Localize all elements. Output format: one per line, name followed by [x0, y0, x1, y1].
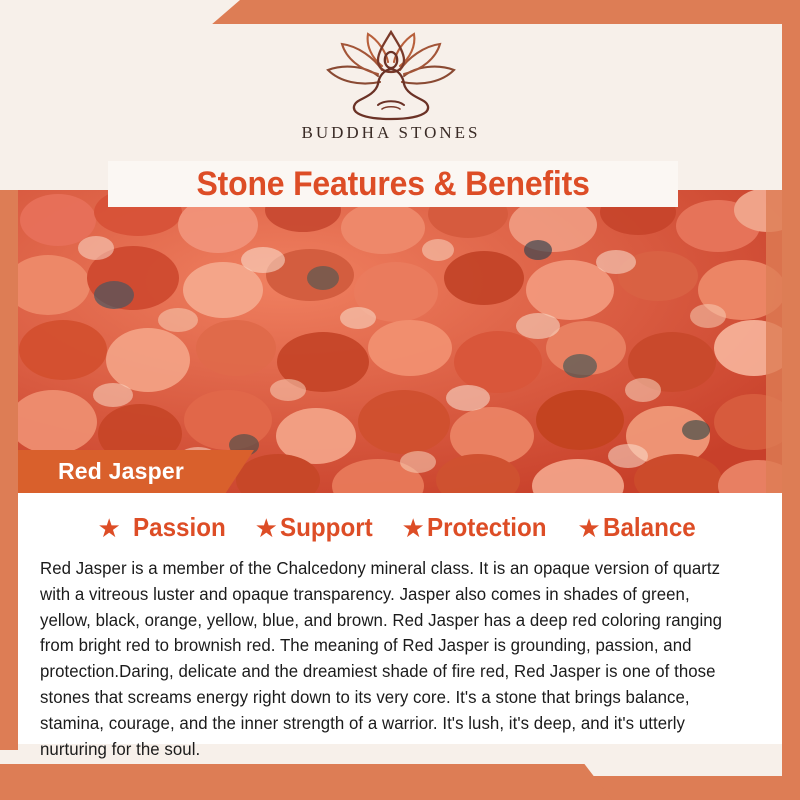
title-band: Stone Features & Benefits: [108, 161, 678, 207]
bottom-orange-band: [0, 764, 612, 800]
star-icon: ★: [577, 515, 600, 541]
benefit-balance: ★ Balance: [577, 512, 702, 543]
benefit-label-protection: Protection: [427, 512, 547, 543]
star-icon: ★: [402, 515, 425, 541]
star-icon: ★: [255, 515, 278, 541]
page-title: Stone Features & Benefits: [196, 165, 589, 204]
benefit-label-passion: Passion: [133, 512, 226, 543]
infographic-page: BUDDHA STONES Stone Features & Benefits: [0, 0, 800, 800]
benefit-passion: ★ Passion: [98, 512, 233, 543]
brand-name: BUDDHA STONES: [302, 123, 481, 143]
brand-logo: BUDDHA STONES: [0, 30, 782, 143]
benefit-label-support: Support: [280, 512, 373, 543]
benefit-protection: ★ Protection: [402, 512, 556, 543]
stone-description: Red Jasper is a member of the Chalcedony…: [40, 556, 745, 762]
content-panel: ★ Passion ★ Support ★ Protection ★ Balan…: [18, 493, 782, 744]
stone-photo: [18, 190, 782, 493]
red-jasper-stones-image: [18, 190, 782, 493]
left-orange-strip: [0, 190, 18, 750]
photo-right-orange-overlay: [766, 190, 800, 493]
benefits-row: ★ Passion ★ Support ★ Protection ★ Balan…: [18, 493, 782, 543]
stone-name-tag: Red Jasper: [18, 450, 254, 493]
benefit-support: ★ Support: [255, 512, 380, 543]
header: BUDDHA STONES Stone Features & Benefits: [0, 24, 782, 190]
lotus-meditating-buddha-icon: [316, 30, 466, 122]
benefit-label-balance: Balance: [603, 512, 696, 543]
stone-name: Red Jasper: [58, 458, 184, 485]
star-icon: ★: [98, 515, 121, 541]
